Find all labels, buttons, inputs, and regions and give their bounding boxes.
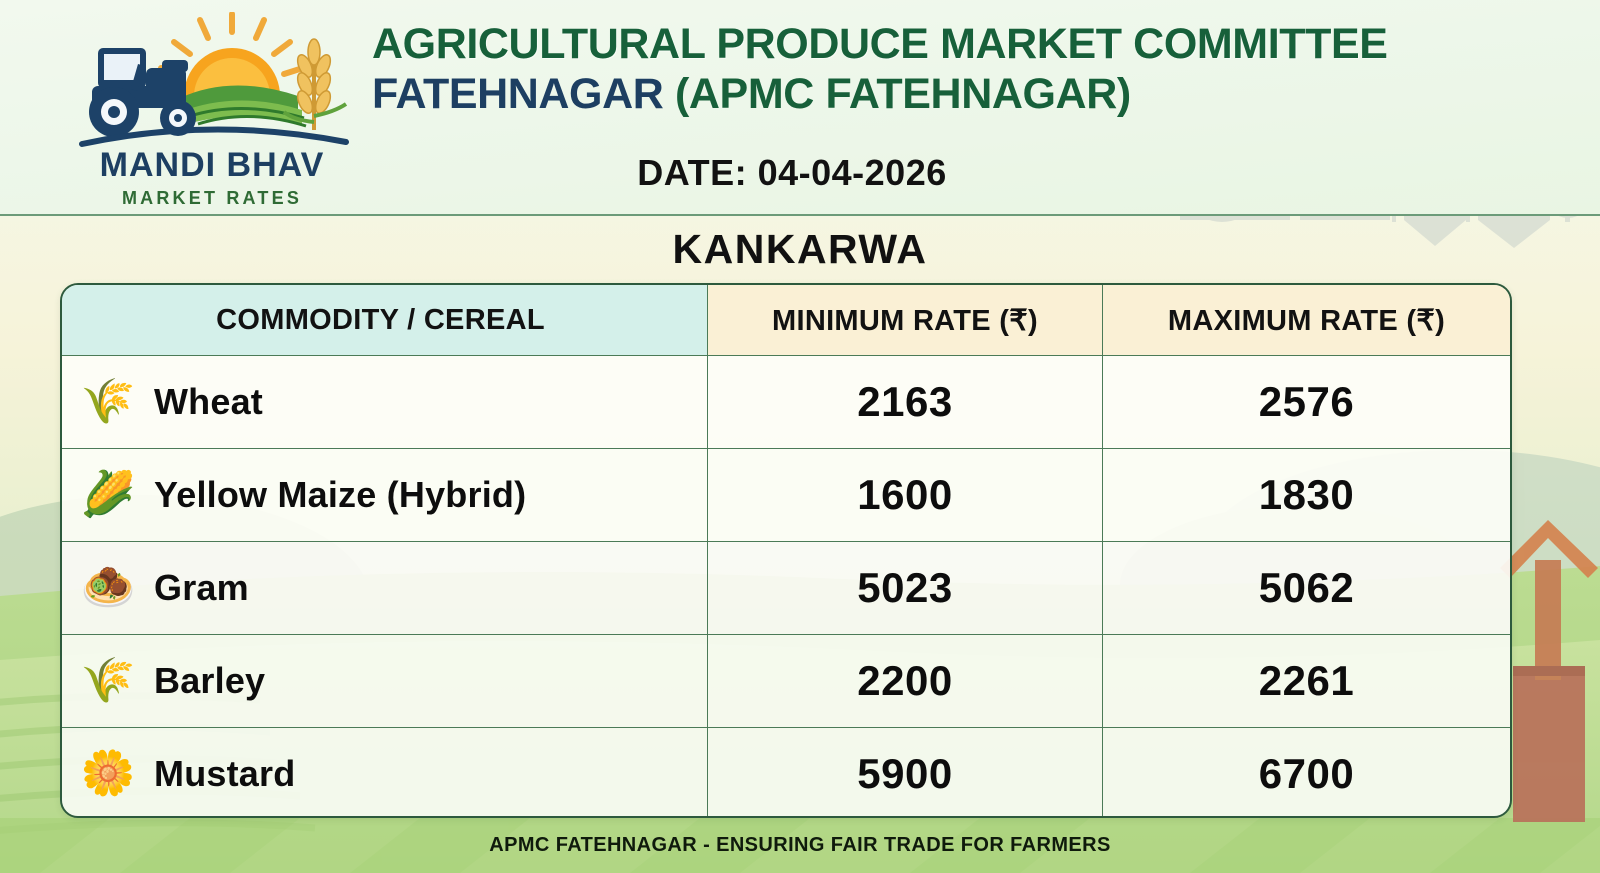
commodity-label: Yellow Maize (Hybrid) [154,474,526,516]
barn-structure-icon [1500,520,1598,822]
cell-max-rate: 5062 [1102,542,1510,634]
min-rate-value: 5900 [857,750,952,798]
title-line-1: AGRICULTURAL PRODUCE MARKET COMMITTEE [372,22,1552,66]
cell-min-rate: 2200 [707,635,1102,727]
wheat-icon: 🌾 [62,380,154,424]
table-row: 🌼 Mustard 5900 6700 [62,727,1510,818]
table-header-row: COMMODITY / CEREAL MINIMUM RATE (₹) MAXI… [62,285,1510,355]
cell-min-rate: 2163 [707,356,1102,448]
brand-logo: MANDI BHAV MARKET RATES [62,12,362,212]
commodity-label: Wheat [154,381,263,423]
commodity-label: Gram [154,567,249,609]
header-cell-max: MAXIMUM RATE (₹) [1102,285,1510,355]
header-label-commodity: COMMODITY / CEREAL [62,304,707,337]
logo-subtitle: MARKET RATES [62,188,362,209]
table-row: 🌾 Barley 2200 2261 [62,634,1510,727]
max-rate-value: 2576 [1259,378,1354,426]
date-label: DATE: 04-04-2026 [372,152,1552,194]
cell-min-rate: 5023 [707,542,1102,634]
market-name-heading: KANKARWA [0,226,1600,273]
cell-commodity: 🌽 Yellow Maize (Hybrid) [62,449,707,541]
header-label-max: MAXIMUM RATE (₹) [1103,303,1510,338]
wheat-stalk-icon [284,39,346,130]
cell-commodity: 🧆 Gram [62,542,707,634]
min-rate-value: 5023 [857,564,952,612]
min-rate-value: 2200 [857,657,952,705]
gram-icon: 🧆 [62,566,154,610]
max-rate-value: 2261 [1259,657,1354,705]
header-label-min: MINIMUM RATE (₹) [708,303,1102,338]
cell-max-rate: 2261 [1102,635,1510,727]
cell-commodity: 🌾 Barley [62,635,707,727]
cell-min-rate: 1600 [707,449,1102,541]
max-rate-value: 1830 [1259,471,1354,519]
tractor-icon [89,48,196,137]
logo-artwork-icon [62,12,362,152]
corn-icon: 🌽 [62,473,154,517]
mustard-icon: 🌼 [62,752,154,796]
footer-tagline: APMC FATEHNAGAR - ENSURING FAIR TRADE FO… [489,834,1110,857]
table-row: 🌾 Wheat 2163 2576 [62,355,1510,448]
commodity-label: Mustard [154,753,295,795]
barley-icon: 🌾 [62,659,154,703]
max-rate-value: 5062 [1259,564,1354,612]
max-rate-value: 6700 [1259,750,1354,798]
footer-bar: APMC FATEHNAGAR - ENSURING FAIR TRADE FO… [0,818,1600,873]
title-apmc: (APMC FATEHNAGAR) [675,70,1131,118]
commodity-label: Barley [154,660,265,702]
logo-title: MANDI BHAV [62,146,362,185]
min-rate-value: 2163 [857,378,952,426]
cell-max-rate: 2576 [1102,356,1510,448]
title-city: FATEHNAGAR [372,70,675,118]
cell-commodity: 🌾 Wheat [62,356,707,448]
cell-min-rate: 5900 [707,728,1102,818]
header-cell-commodity: COMMODITY / CEREAL [62,285,707,355]
cell-max-rate: 1830 [1102,449,1510,541]
cell-commodity: 🌼 Mustard [62,728,707,818]
table-row: 🌽 Yellow Maize (Hybrid) 1600 1830 [62,448,1510,541]
page-title: AGRICULTURAL PRODUCE MARKET COMMITTEE FA… [372,22,1552,118]
table-row: 🧆 Gram 5023 5062 [62,541,1510,634]
header-cell-min: MINIMUM RATE (₹) [707,285,1102,355]
rates-table: COMMODITY / CEREAL MINIMUM RATE (₹) MAXI… [60,283,1512,818]
title-line-2: FATEHNAGAR (APMC FATEHNAGAR) [372,70,1552,118]
min-rate-value: 1600 [857,471,952,519]
cell-max-rate: 6700 [1102,728,1510,818]
